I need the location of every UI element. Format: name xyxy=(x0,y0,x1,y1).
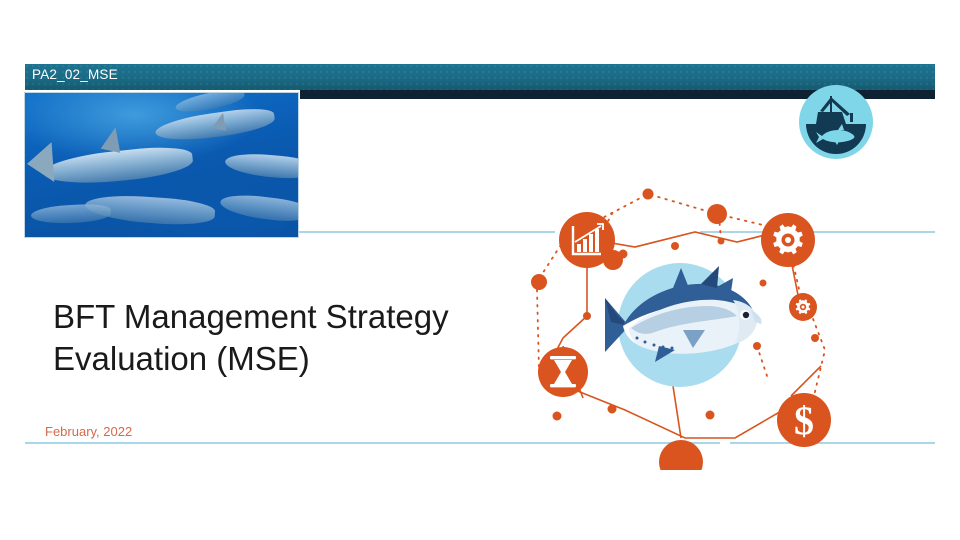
page-title: BFT Management Strategy Evaluation (MSE) xyxy=(53,296,513,380)
slide-canvas: PA2_02_MSE BFT Managemen xyxy=(0,0,960,540)
organization-logo xyxy=(798,84,874,160)
logo-icon xyxy=(798,84,874,160)
node-bottom-partial[interactable] xyxy=(659,440,703,470)
network-svg: $ xyxy=(505,170,925,470)
mse-network-graphic: $ xyxy=(505,170,925,470)
page-title-line-2: Evaluation (MSE) xyxy=(53,340,310,377)
header-title: PA2_02_MSE xyxy=(32,67,118,82)
slide-date: February, 2022 xyxy=(45,424,132,439)
dollar-icon: $ xyxy=(794,398,814,443)
tuna-school-photo xyxy=(25,93,298,237)
page-title-line-1: BFT Management Strategy xyxy=(53,298,449,335)
photo-fish-tail-1 xyxy=(26,142,55,184)
node-gear[interactable] xyxy=(761,213,815,267)
node-hourglass[interactable] xyxy=(538,347,588,397)
divider-line-bottom-left xyxy=(25,442,545,444)
node-dollar[interactable]: $ xyxy=(777,393,831,447)
node-bar-chart[interactable] xyxy=(559,212,615,268)
node-small-gear[interactable] xyxy=(789,293,817,321)
